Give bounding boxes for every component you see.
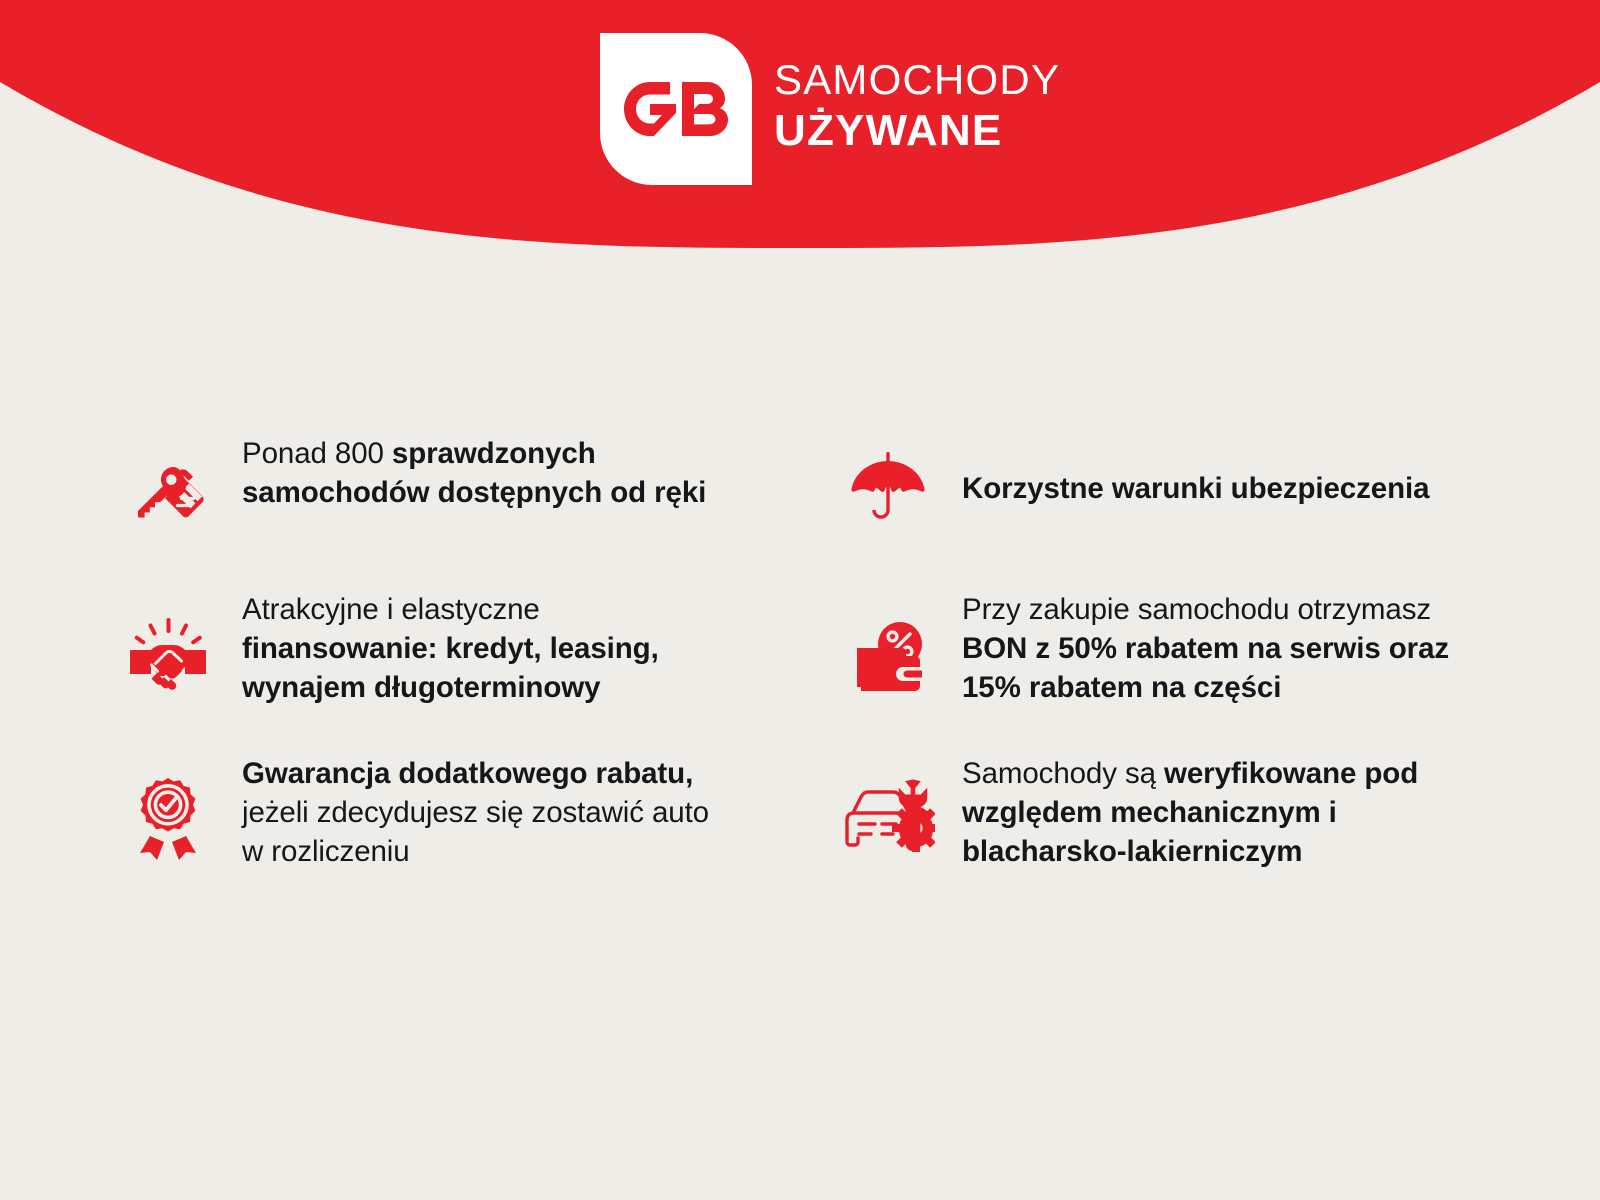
feature-tail-text: jeżeli zdecydujesz się zostawić auto w r… — [242, 796, 709, 868]
feature-item-guarantee: Gwarancja dodatkowego rabatu, jeżeli zde… — [120, 750, 840, 872]
car-wrench-gear-icon — [840, 768, 936, 864]
wallet-percent-icon — [840, 610, 936, 706]
feature-bold-text: Gwarancja dodatkowego rabatu, — [242, 757, 693, 790]
key-tag-icon — [120, 448, 216, 544]
feature-item-keys: Ponad 800 sprawdzonych samochodów dostęp… — [120, 430, 840, 544]
umbrella-icon — [840, 439, 936, 535]
award-badge-icon — [120, 772, 216, 868]
feature-lead-text: Ponad 800 — [242, 437, 392, 470]
feature-text-insurance: Korzystne warunki ubezpieczenia — [962, 465, 1429, 508]
feature-item-insurance: Korzystne warunki ubezpieczenia — [840, 430, 1600, 544]
feature-text-voucher: Przy zakupie samochodu otrzymasz BON z 5… — [962, 586, 1482, 708]
brand-title-line-2: UŻYWANE — [774, 109, 1060, 153]
feature-text-verification: Samochody są weryfikowane pod względem m… — [962, 750, 1502, 872]
feature-bold-text: Korzystne warunki ubezpieczenia — [962, 472, 1429, 505]
feature-text-guarantee: Gwarancja dodatkowego rabatu, jeżeli zde… — [242, 750, 712, 872]
brand-lockup: SAMOCHODY UŻYWANE — [600, 33, 1060, 185]
brand-title-line-1: SAMOCHODY — [774, 59, 1060, 109]
feature-text-financing: Atrakcyjne i elastyczne finansowanie: kr… — [242, 586, 712, 708]
feature-bold-text: finansowanie: kredyt, leasing, wynajem d… — [242, 632, 659, 704]
feature-bold-text: BON z 50% rabatem na serwis oraz 15% rab… — [962, 632, 1449, 704]
gb-logo-mark[interactable] — [600, 33, 752, 185]
feature-lead-text: Przy zakupie samochodu otrzymasz — [962, 593, 1431, 626]
feature-text-keys: Ponad 800 sprawdzonych samochodów dostęp… — [242, 430, 712, 512]
features-grid: Ponad 800 sprawdzonych samochodów dostęp… — [0, 430, 1600, 871]
brand-title-block: SAMOCHODY UŻYWANE — [774, 59, 1060, 159]
feature-item-voucher: Przy zakupie samochodu otrzymasz BON z 5… — [840, 586, 1600, 708]
feature-item-financing: Atrakcyjne i elastyczne finansowanie: kr… — [120, 586, 840, 708]
gb-logo-icon — [624, 82, 728, 136]
page-header: SAMOCHODY UŻYWANE — [0, 0, 1600, 260]
handshake-icon — [120, 606, 216, 702]
feature-lead-text: Atrakcyjne i elastyczne — [242, 593, 540, 626]
feature-lead-text: Samochody są — [962, 757, 1164, 790]
feature-item-verification: Samochody są weryfikowane pod względem m… — [840, 750, 1600, 872]
